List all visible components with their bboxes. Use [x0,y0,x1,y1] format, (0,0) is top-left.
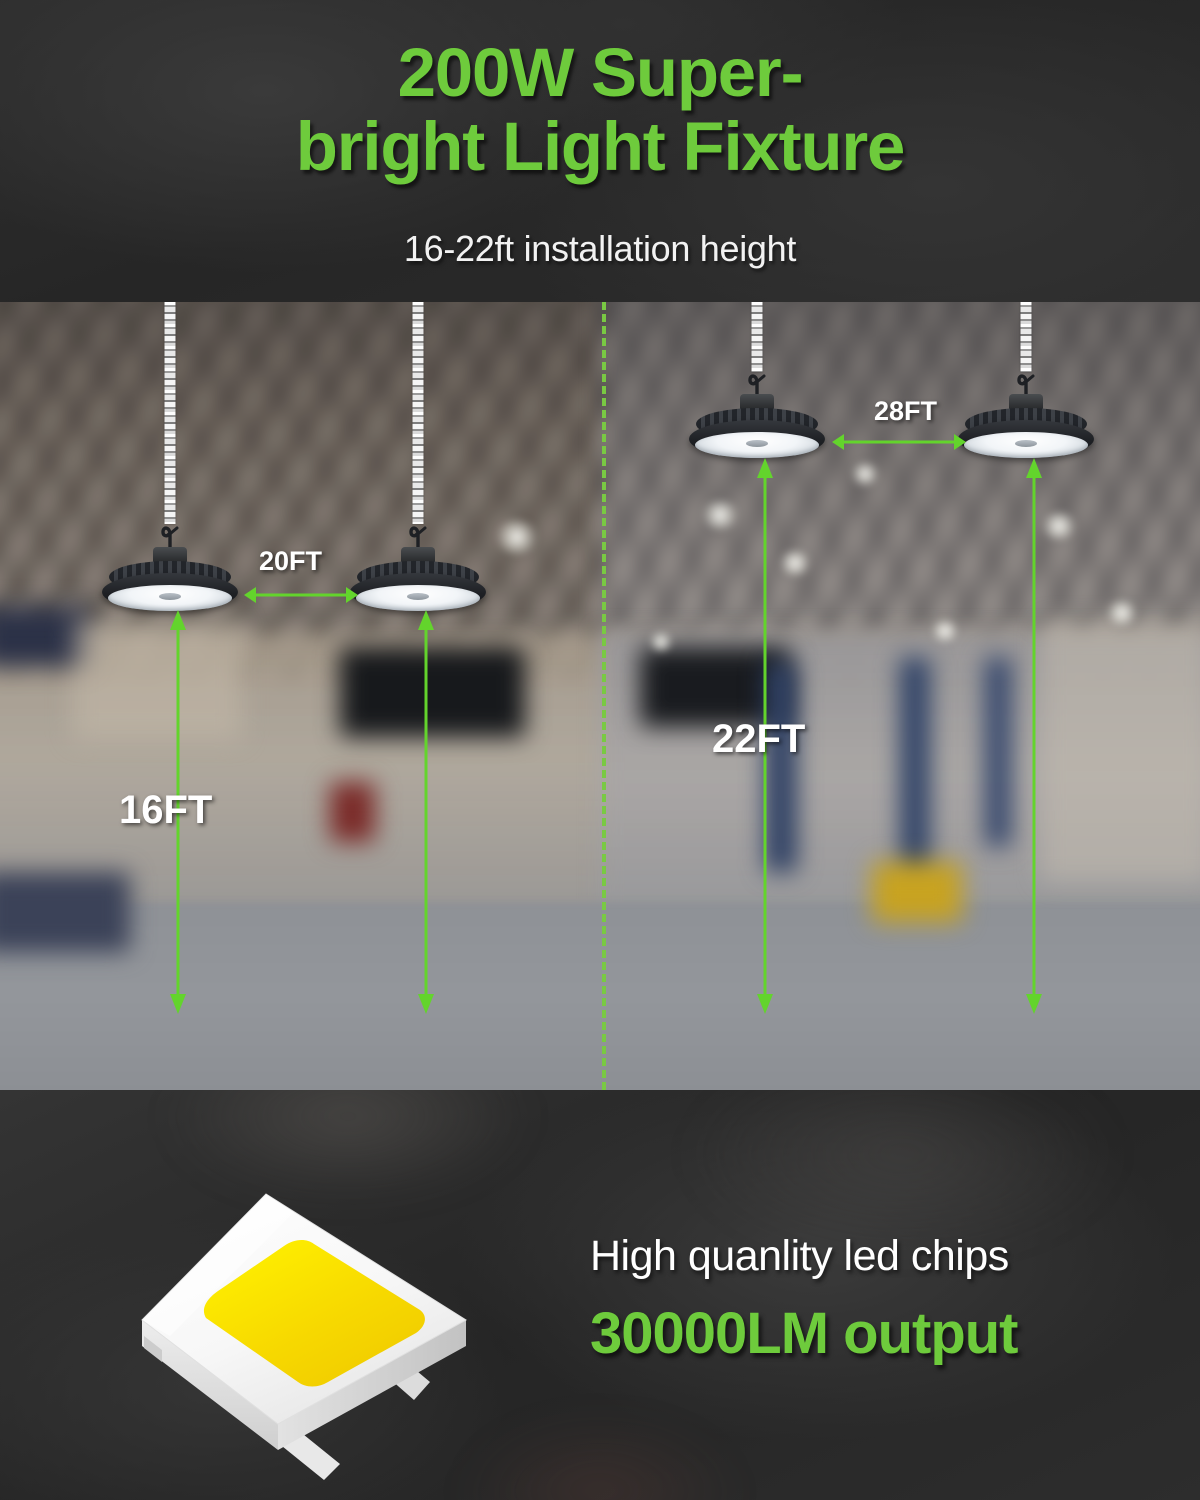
led-chips-headline: High quanlity led chips [590,1232,1009,1281]
arrow-head-down [757,994,773,1014]
lamp-lens-center [407,593,429,600]
lamp-lens-center [746,440,768,447]
height-arrow-right-2 [1026,458,1042,1014]
arrow-shaft [253,594,349,597]
background-lamp-glow [648,632,674,652]
page-subtitle: 16-22ft installation height [0,228,1200,270]
lamp-lens-center [159,593,181,600]
shelving-blob [985,657,1011,847]
mounting-chain [413,302,424,524]
background-lamp-glow [1040,512,1078,540]
background-lamp-glow [850,462,880,486]
arrow-head-up [757,458,773,478]
shelving-blob [900,657,930,887]
height-label-left: 16FT [119,788,212,833]
shelving-blob [1040,622,1200,882]
background-lamp-glow [1105,600,1139,626]
height-label-right: 22FT [712,717,805,762]
mounting-chain [165,302,176,524]
smd-led-chip-icon [118,1150,508,1480]
shelving-blob [72,620,242,740]
arrow-head-up [418,610,434,630]
spacing-arrow-right [832,433,966,451]
page-title: 200W Super- bright Light Fixture [0,36,1200,184]
arrow-shaft [841,441,957,444]
arrow-head-right [346,587,358,603]
spacing-arrow-left [244,586,358,604]
height-arrow-left-2 [418,610,434,1014]
shelving-blob [330,782,375,842]
mounting-chain [752,302,763,372]
arrow-head-right [954,434,966,450]
s-hook-icon [159,520,181,550]
background-lamp-glow [778,550,812,576]
background-lamp-glow [494,520,540,554]
background-lamp-glow [930,620,960,642]
arrow-shaft [425,628,428,998]
lumen-output-headline: 30000LM output [590,1300,1018,1367]
arrow-head-down [1026,994,1042,1014]
arrow-head-up [170,610,186,630]
shelving-blob [0,872,130,952]
arrow-shaft [1033,476,1036,998]
arrow-head-down [418,994,434,1014]
mounting-chain [1021,302,1032,372]
s-hook-icon [407,520,429,550]
led-chip-illustration [118,1150,508,1480]
spacing-label-right: 28FT [874,396,937,427]
lamp-lens-center [1015,440,1037,447]
background-lamp-glow [700,500,740,530]
header-panel: 200W Super- bright Light Fixture 16-22ft… [0,0,1200,302]
arrow-head-up [1026,458,1042,478]
shelving-blob [872,862,962,922]
product-infographic: 200W Super- bright Light Fixture 16-22ft… [0,0,1200,1500]
section-divider [602,302,606,1090]
spacing-label-left: 20FT [259,546,322,577]
installation-scene: 20FT 16FT Dia:42ft [0,302,1200,1090]
arrow-head-down [170,994,186,1014]
